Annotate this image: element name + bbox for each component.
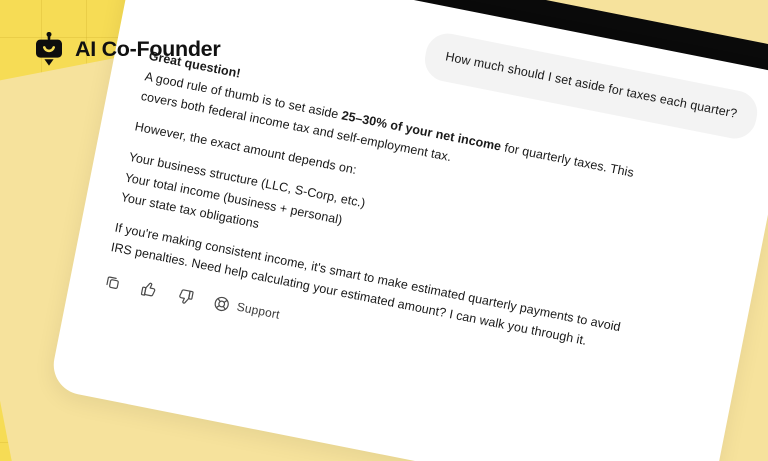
support-button[interactable]: Support bbox=[212, 293, 282, 325]
lifebuoy-icon bbox=[212, 294, 232, 314]
screenshot-stage: How much should I set aside for taxes ea… bbox=[0, 0, 768, 461]
thumbs-down-icon[interactable] bbox=[175, 287, 195, 307]
copy-icon[interactable] bbox=[103, 272, 123, 292]
chat-card-content: How much should I set aside for taxes ea… bbox=[49, 0, 768, 461]
chat-card: How much should I set aside for taxes ea… bbox=[49, 0, 768, 461]
support-label: Support bbox=[235, 297, 281, 325]
brand-logo: AI Co-Founder bbox=[34, 32, 220, 66]
thumbs-up-icon[interactable] bbox=[139, 279, 159, 299]
brand-name: AI Co-Founder bbox=[75, 37, 220, 62]
robot-head-icon bbox=[34, 32, 64, 66]
